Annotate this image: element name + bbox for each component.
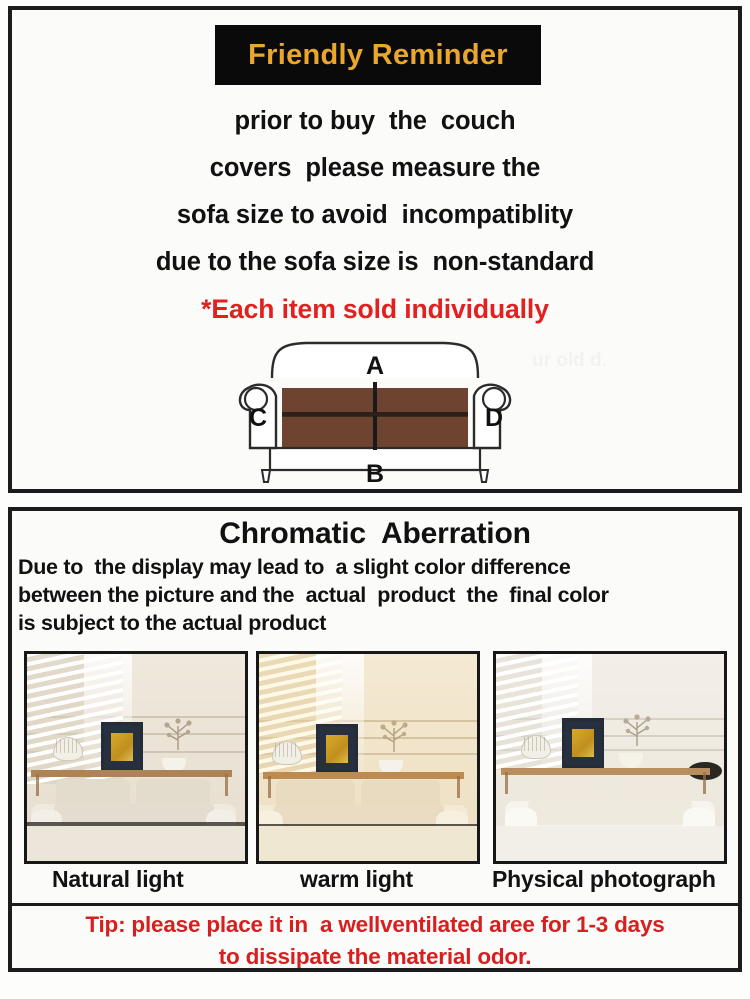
friendly-reminder-banner: Friendly Reminder	[215, 25, 541, 85]
shell-decor	[53, 737, 83, 761]
shell-decor	[272, 741, 302, 765]
chromatic-title: Chromatic Aberration	[12, 517, 738, 551]
framed-artwork	[316, 724, 358, 774]
living-room-scene	[496, 654, 724, 861]
reminder-line-1: prior to buy the couch	[12, 98, 738, 145]
sofa-diagram-container: A B C D	[12, 330, 738, 490]
reminder-line-3: sofa size to avoid incompatiblity	[12, 192, 738, 239]
chromatic-line-2: between the picture and the actual produ…	[18, 581, 732, 609]
photo-cell-physical-photograph	[493, 651, 727, 864]
photo-cell-warm-light	[256, 651, 480, 864]
label-a: A	[366, 352, 384, 380]
reminder-text-block: prior to buy the couch covers please mea…	[12, 98, 738, 333]
dried-branch-decor	[372, 718, 416, 752]
banner-title: Friendly Reminder	[248, 39, 508, 72]
floor	[259, 826, 477, 861]
floor	[27, 826, 245, 861]
caption-natural-light: Natural light	[52, 866, 184, 893]
photo-natural-light	[24, 651, 248, 864]
tip-line-1: Tip: please place it in a wellventilated…	[12, 909, 738, 941]
framed-artwork	[562, 718, 604, 768]
friendly-reminder-panel: Friendly Reminder prior to buy the couch…	[8, 6, 742, 493]
artwork-canvas	[111, 733, 133, 761]
framed-artwork	[101, 722, 143, 772]
product-info-graphic: Friendly Reminder prior to buy the couch…	[0, 0, 750, 999]
photo-warm-light	[256, 651, 480, 864]
caption-physical-photograph: Physical photograph	[492, 866, 716, 893]
caption-warm-light: warm light	[300, 866, 413, 893]
chromatic-body-text: Due to the display may lead to a slight …	[12, 551, 738, 637]
chromatic-line-3: is subject to the actual product	[18, 609, 732, 637]
label-b: B	[366, 460, 384, 488]
photo-physical-photograph	[493, 651, 727, 864]
tip-divider	[12, 903, 738, 906]
artwork-canvas	[326, 735, 348, 763]
dried-branch-decor	[615, 712, 659, 746]
reminder-line-2: covers please measure the	[12, 145, 738, 192]
tip-block: Tip: please place it in a wellventilated…	[12, 909, 738, 972]
label-c: C	[249, 404, 267, 432]
photo-cell-natural-light	[24, 651, 248, 864]
photo-caption-row: Natural light warm light Physical photog…	[12, 866, 738, 902]
floor	[496, 826, 724, 861]
shell-decor	[521, 735, 551, 759]
sofa-seat	[528, 801, 692, 825]
chromatic-aberration-panel: Chromatic Aberration Due to the display …	[8, 507, 742, 972]
tip-line-2: to dissipate the material odor.	[12, 941, 738, 972]
dried-branch-decor	[156, 716, 200, 750]
sofa-measurement-diagram: A B C D	[210, 330, 540, 488]
chromatic-line-1: Due to the display may lead to a slight …	[18, 553, 732, 581]
living-room-scene	[259, 654, 477, 861]
artwork-canvas	[572, 729, 594, 757]
photo-comparison-row	[12, 651, 738, 866]
label-d: D	[485, 404, 503, 432]
reminder-accent-line: *Each item sold individually	[12, 286, 738, 333]
living-room-scene	[27, 654, 245, 861]
reminder-line-4: due to the sofa size is non-standard	[12, 239, 738, 286]
